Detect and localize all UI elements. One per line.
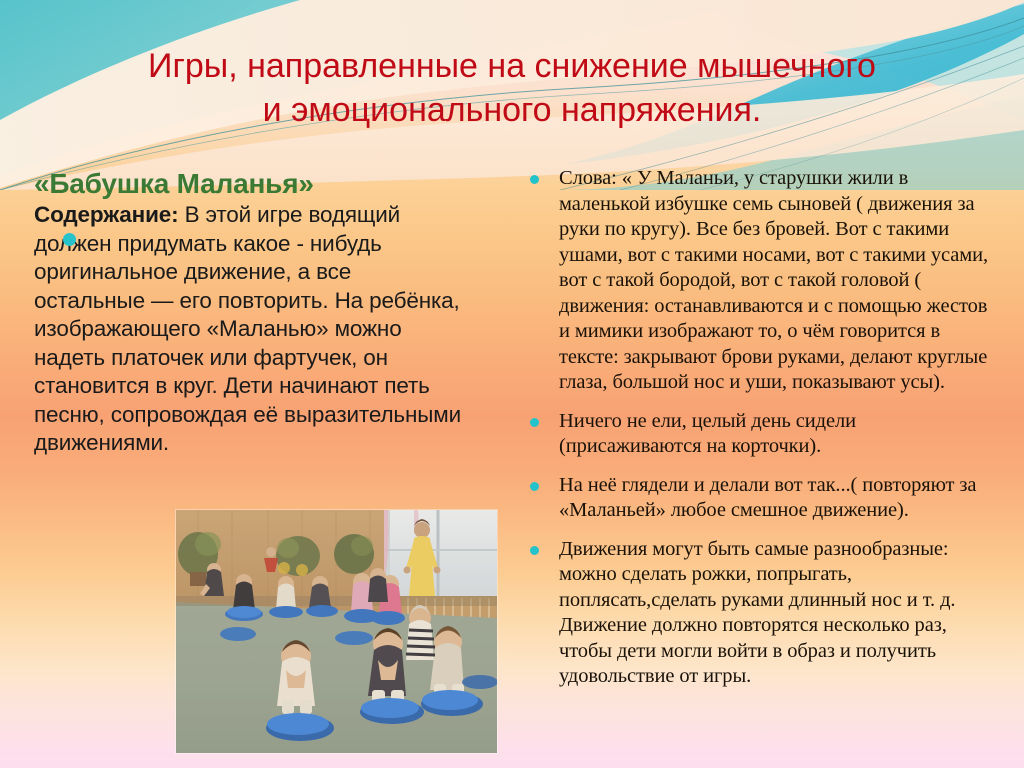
- bullet-dot-icon: [530, 546, 539, 555]
- list-item: Слова: « У Маланьи, у старушки жили в ма…: [520, 166, 1002, 396]
- left-column: «Бабушка Маланья» Содержание: В этой игр…: [34, 168, 464, 457]
- stray-bullet-dot: [63, 233, 76, 246]
- game-description: Содержание: В этой игре водящий должен п…: [34, 201, 464, 457]
- list-item-text: Движения могут быть самые разнообразные:…: [559, 538, 955, 688]
- slide-title-line-2: и эмоционального напряжения.: [0, 88, 1024, 132]
- list-item-text: Слова: « У Маланьи, у старушки жили в ма…: [559, 167, 988, 393]
- list-item: На неё глядели и делали вот так...( повт…: [520, 473, 1002, 524]
- bullet-dot-icon: [530, 482, 539, 491]
- right-column: Слова: « У Маланьи, у старушки жили в ма…: [520, 166, 1002, 690]
- list-item: Ничего не ели, целый день сидели (присаж…: [520, 409, 1002, 460]
- list-item-text: Ничего не ели, целый день сидели (присаж…: [559, 410, 856, 458]
- bullet-list: Слова: « У Маланьи, у старушки жили в ма…: [520, 166, 1002, 690]
- slide-title-line-1: Игры, направленные на снижение мышечного: [0, 44, 1024, 88]
- bullet-dot-icon: [530, 418, 539, 427]
- list-item-text: На неё глядели и делали вот так...( повт…: [559, 474, 976, 522]
- list-item: Движения могут быть самые разнообразные:…: [520, 537, 1002, 690]
- slide: Игры, направленные на снижение мышечного…: [0, 0, 1024, 768]
- description-label: Содержание:: [34, 202, 178, 227]
- classroom-photo: [176, 510, 497, 753]
- game-name-heading: «Бабушка Маланья»: [34, 168, 464, 199]
- description-text: В этой игре водящий должен придумать как…: [34, 202, 461, 455]
- bullet-dot-icon: [530, 175, 539, 184]
- slide-title: Игры, направленные на снижение мышечного…: [0, 44, 1024, 132]
